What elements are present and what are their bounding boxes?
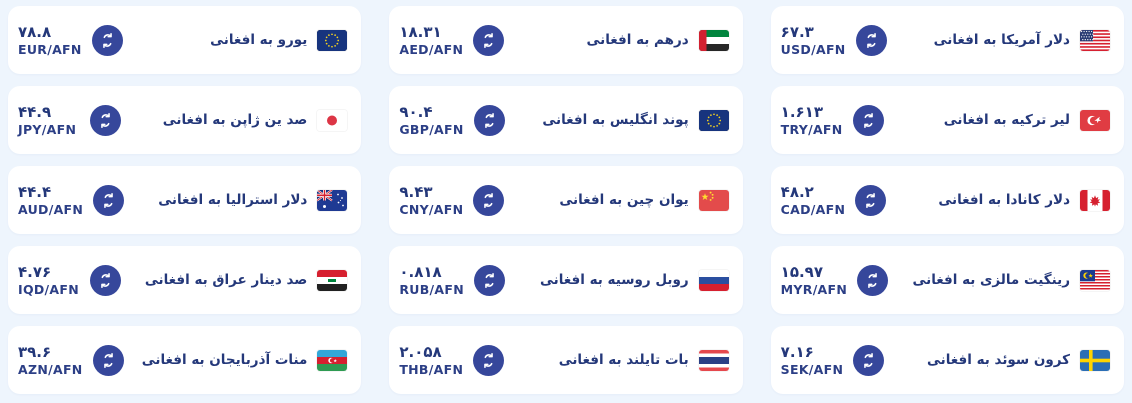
rate-group: ۶۷.۳ USD/AFN — [781, 23, 887, 57]
currency-name: دلار کانادا به افغانی — [938, 192, 1070, 208]
swap-arrows-icon[interactable] — [90, 265, 121, 296]
currency-rate-card[interactable]: دلار آمریکا به افغانی ۶۷.۳ USD/AFN — [771, 6, 1124, 74]
currency-label-group: دلار آمریکا به افغانی — [934, 30, 1110, 51]
swap-arrows-icon[interactable] — [473, 185, 504, 216]
currency-name: صد ین ژاپن به افغانی — [163, 112, 308, 128]
currency-label-group: دلار استرالیا به افغانی — [158, 190, 347, 211]
rate-pair-code: THB/AFN — [399, 362, 463, 378]
rate-pair-code: CNY/AFN — [399, 202, 463, 218]
rate-pair-code: JPY/AFN — [18, 122, 80, 138]
rate-pair-code: MYR/AFN — [781, 282, 847, 298]
rate-pair-code: GBP/AFN — [399, 122, 463, 138]
currency-name: روبل روسیه به افغانی — [540, 272, 689, 288]
rate-value: ۱۵.۹۷ — [781, 263, 847, 282]
rate-group: ۲.۰۵۸ THB/AFN — [399, 343, 504, 377]
rate-pair-code: AED/AFN — [399, 42, 463, 58]
currency-rate-card[interactable]: بات تایلند به افغانی ۲.۰۵۸ THB/AFN — [389, 326, 742, 394]
rate-value: ۴.۷۶ — [18, 263, 80, 282]
flag-united-arab-emirates-icon — [699, 30, 729, 51]
rate-values: ۰.۸۱۸ RUB/AFN — [399, 263, 464, 297]
flag-united-states-icon — [1080, 30, 1110, 51]
currency-label-group: صد دینار عراق به افغانی — [145, 270, 347, 291]
rate-value: ۲.۰۵۸ — [399, 343, 463, 362]
rate-pair-code: EUR/AFN — [18, 42, 82, 58]
rate-pair-code: RUB/AFN — [399, 282, 464, 298]
rate-group: ۷.۱۶ SEK/AFN — [781, 343, 885, 377]
rate-values: ۷۸.۸ EUR/AFN — [18, 23, 82, 57]
currency-label-group: پوند انگلیس به افغانی — [542, 110, 728, 131]
flag-canada-icon — [1080, 190, 1110, 211]
currency-label-group: صد ین ژاپن به افغانی — [163, 110, 348, 131]
swap-arrows-icon[interactable] — [93, 345, 124, 376]
rate-values: ۱۸.۳۱ AED/AFN — [399, 23, 463, 57]
swap-arrows-icon[interactable] — [93, 185, 124, 216]
swap-arrows-icon[interactable] — [90, 105, 121, 136]
swap-arrows-icon[interactable] — [853, 105, 884, 136]
rate-group: ۱۵.۹۷ MYR/AFN — [781, 263, 888, 297]
rate-values: ۹۰.۴ GBP/AFN — [399, 103, 463, 137]
currency-rate-card[interactable]: کرون سوئد به افغانی ۷.۱۶ SEK/AFN — [771, 326, 1124, 394]
currency-name: منات آذربایجان به افغانی — [142, 352, 308, 368]
rate-values: ۹.۴۳ CNY/AFN — [399, 183, 463, 217]
flag-malaysia-icon — [1080, 270, 1110, 291]
currency-name: بات تایلند به افغانی — [559, 352, 689, 368]
currency-rate-card[interactable]: دلار کانادا به افغانی ۴۸.۲ CAD/AFN — [771, 166, 1124, 234]
currency-rate-card[interactable]: منات آذربایجان به افغانی ۳۹.۶ AZN/AFN — [8, 326, 361, 394]
currency-label-group: درهم به افغانی — [586, 30, 728, 51]
flag-turkey-icon — [1080, 110, 1110, 131]
rate-group: ۷۸.۸ EUR/AFN — [18, 23, 123, 57]
currency-name: یوان چین به افغانی — [559, 192, 688, 208]
rate-values: ۴۸.۲ CAD/AFN — [781, 183, 846, 217]
flag-japan-icon — [317, 110, 347, 131]
currency-rate-card[interactable]: یورو به افغانی ۷۸.۸ EUR/AFN — [8, 6, 361, 74]
flag-australia-icon — [317, 190, 347, 211]
currency-label-group: لیر ترکیه به افغانی — [944, 110, 1110, 131]
currency-rate-card[interactable]: روبل روسیه به افغانی ۰.۸۱۸ RUB/AFN — [389, 246, 742, 314]
rate-pair-code: AZN/AFN — [18, 362, 83, 378]
currency-rate-grid: دلار آمریکا به افغانی ۶۷.۳ USD/AFN درهم … — [0, 0, 1132, 400]
currency-name: کرون سوئد به افغانی — [927, 352, 1070, 368]
rate-values: ۴۴.۴ AUD/AFN — [18, 183, 83, 217]
rate-pair-code: TRY/AFN — [781, 122, 843, 138]
rate-values: ۲.۰۵۸ THB/AFN — [399, 343, 463, 377]
rate-value: ۴۸.۲ — [781, 183, 846, 202]
rate-value: ۴۴.۴ — [18, 183, 83, 202]
rate-group: ۴۸.۲ CAD/AFN — [781, 183, 887, 217]
rate-group: ۹.۴۳ CNY/AFN — [399, 183, 504, 217]
rate-group: ۱۸.۳۱ AED/AFN — [399, 23, 504, 57]
currency-name: دلار آمریکا به افغانی — [934, 32, 1070, 48]
currency-rate-card[interactable]: رینگیت مالزی به افغانی ۱۵.۹۷ MYR/AFN — [771, 246, 1124, 314]
currency-rate-card[interactable]: یوان چین به افغانی ۹.۴۳ CNY/AFN — [389, 166, 742, 234]
swap-arrows-icon[interactable] — [856, 25, 887, 56]
rate-value: ۹۰.۴ — [399, 103, 463, 122]
rate-value: ۴۴.۹ — [18, 103, 80, 122]
currency-label-group: یورو به افغانی — [210, 30, 347, 51]
rate-value: ۱.۶۱۳ — [781, 103, 843, 122]
rate-values: ۴.۷۶ IQD/AFN — [18, 263, 80, 297]
swap-arrows-icon[interactable] — [473, 25, 504, 56]
flag-european-union-icon — [699, 110, 729, 131]
rate-pair-code: CAD/AFN — [781, 202, 846, 218]
rate-group: ۴۴.۴ AUD/AFN — [18, 183, 124, 217]
swap-arrows-icon[interactable] — [855, 185, 886, 216]
currency-label-group: منات آذربایجان به افغانی — [142, 350, 348, 371]
currency-rate-card[interactable]: صد ین ژاپن به افغانی ۴۴.۹ JPY/AFN — [8, 86, 361, 154]
currency-rate-card[interactable]: لیر ترکیه به افغانی ۱.۶۱۳ TRY/AFN — [771, 86, 1124, 154]
flag-russia-icon — [699, 270, 729, 291]
currency-name: یورو به افغانی — [210, 32, 307, 48]
currency-label-group: یوان چین به افغانی — [559, 190, 728, 211]
rate-value: ۶۷.۳ — [781, 23, 846, 42]
flag-china-icon — [699, 190, 729, 211]
currency-rate-card[interactable]: پوند انگلیس به افغانی ۹۰.۴ GBP/AFN — [389, 86, 742, 154]
rate-values: ۱۵.۹۷ MYR/AFN — [781, 263, 847, 297]
currency-name: صد دینار عراق به افغانی — [145, 272, 307, 288]
swap-arrows-icon[interactable] — [92, 25, 123, 56]
currency-label-group: روبل روسیه به افغانی — [540, 270, 729, 291]
flag-sweden-icon — [1080, 350, 1110, 371]
swap-arrows-icon[interactable] — [473, 345, 504, 376]
rate-values: ۴۴.۹ JPY/AFN — [18, 103, 80, 137]
currency-name: لیر ترکیه به افغانی — [944, 112, 1070, 128]
rate-value: ۷۸.۸ — [18, 23, 82, 42]
currency-label-group: دلار کانادا به افغانی — [938, 190, 1110, 211]
currency-name: رینگیت مالزی به افغانی — [912, 272, 1070, 288]
swap-arrows-icon[interactable] — [857, 265, 888, 296]
rate-value: ۰.۸۱۸ — [399, 263, 464, 282]
currency-name: درهم به افغانی — [586, 32, 688, 48]
rate-value: ۷.۱۶ — [781, 343, 844, 362]
rate-group: ۴.۷۶ IQD/AFN — [18, 263, 121, 297]
currency-rate-card[interactable]: دلار استرالیا به افغانی ۴۴.۴ AUD/AFN — [8, 166, 361, 234]
rate-value: ۱۸.۳۱ — [399, 23, 463, 42]
rate-pair-code: SEK/AFN — [781, 362, 844, 378]
rate-group: ۴۴.۹ JPY/AFN — [18, 103, 121, 137]
flag-azerbaijan-icon — [317, 350, 347, 371]
rate-values: ۳۹.۶ AZN/AFN — [18, 343, 83, 377]
swap-arrows-icon[interactable] — [474, 105, 505, 136]
currency-rate-card[interactable]: صد دینار عراق به افغانی ۴.۷۶ IQD/AFN — [8, 246, 361, 314]
rate-pair-code: USD/AFN — [781, 42, 846, 58]
flag-thailand-icon — [699, 350, 729, 371]
currency-label-group: بات تایلند به افغانی — [559, 350, 729, 371]
flag-european-union-icon — [317, 30, 347, 51]
rate-values: ۷.۱۶ SEK/AFN — [781, 343, 844, 377]
rate-group: ۱.۶۱۳ TRY/AFN — [781, 103, 884, 137]
rate-values: ۱.۶۱۳ TRY/AFN — [781, 103, 843, 137]
currency-label-group: کرون سوئد به افغانی — [927, 350, 1110, 371]
rate-values: ۶۷.۳ USD/AFN — [781, 23, 846, 57]
swap-arrows-icon[interactable] — [853, 345, 884, 376]
currency-rate-card[interactable]: درهم به افغانی ۱۸.۳۱ AED/AFN — [389, 6, 742, 74]
currency-name: پوند انگلیس به افغانی — [542, 112, 688, 128]
rate-group: ۳۹.۶ AZN/AFN — [18, 343, 124, 377]
flag-iraq-icon — [317, 270, 347, 291]
rate-group: ۰.۸۱۸ RUB/AFN — [399, 263, 505, 297]
swap-arrows-icon[interactable] — [474, 265, 505, 296]
rate-pair-code: IQD/AFN — [18, 282, 80, 298]
currency-label-group: رینگیت مالزی به افغانی — [912, 270, 1110, 291]
rate-value: ۳۹.۶ — [18, 343, 83, 362]
currency-name: دلار استرالیا به افغانی — [158, 192, 307, 208]
rate-value: ۹.۴۳ — [399, 183, 463, 202]
rate-group: ۹۰.۴ GBP/AFN — [399, 103, 504, 137]
rate-pair-code: AUD/AFN — [18, 202, 83, 218]
